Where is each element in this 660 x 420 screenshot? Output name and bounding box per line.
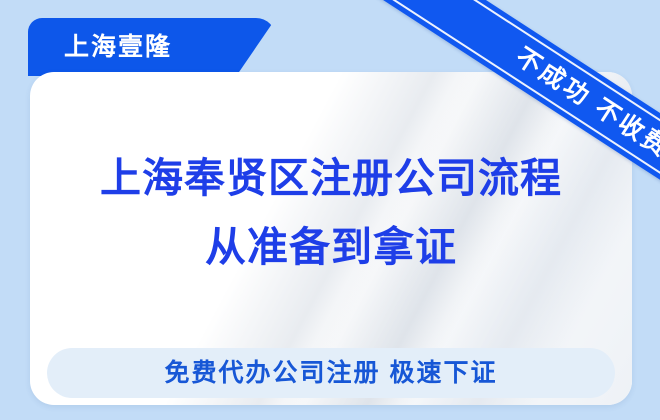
cta-banner-label: 免费代办公司注册 极速下证 [165, 361, 498, 386]
cta-banner[interactable]: 免费代办公司注册 极速下证 [47, 348, 615, 398]
poster-banner: 上海壹隆 上海奉贤区注册公司流程 从准备到拿证 免费代办公司注册 极速下证 不成… [0, 0, 660, 420]
main-card: 上海奉贤区注册公司流程 从准备到拿证 免费代办公司注册 极速下证 [30, 72, 632, 405]
headline-line-1: 上海奉贤区注册公司流程 [100, 158, 562, 199]
brand-tab[interactable]: 上海壹隆 [28, 18, 276, 76]
headline-line-2: 从准备到拿证 [205, 227, 457, 268]
brand-tab-label: 上海壹隆 [64, 35, 172, 60]
